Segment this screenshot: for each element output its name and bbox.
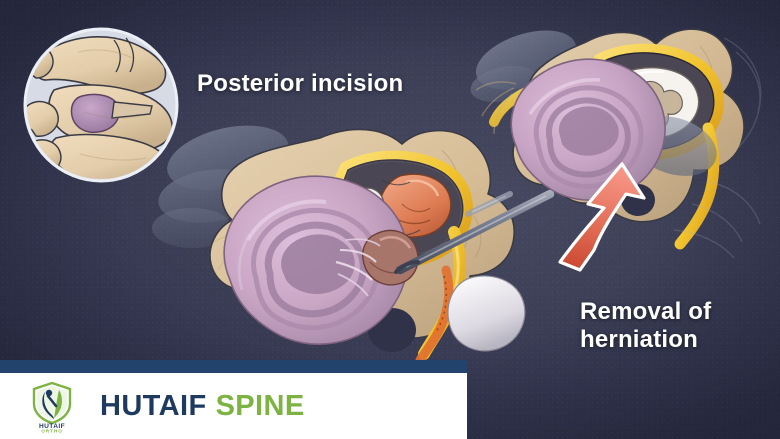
footer-body: HUTAIF ORTHO HUTAIFSPINE bbox=[0, 373, 467, 439]
articular-facet bbox=[448, 276, 525, 351]
illustration-canvas: Posterior incision Removal of herniation… bbox=[0, 0, 780, 439]
brand-wordmark: HUTAIFSPINE bbox=[100, 390, 305, 423]
removal-of-herniation-label: Removal of herniation bbox=[580, 298, 711, 354]
wordmark-hutaif: HUTAIF bbox=[100, 390, 207, 422]
surgical-instrument-tip bbox=[468, 194, 510, 214]
cervical-spine-inset bbox=[18, 22, 184, 188]
hutaif-shield-logo: HUTAIF ORTHO bbox=[24, 378, 80, 434]
logo-secondary-text: ORTHO bbox=[41, 428, 63, 433]
right-vertebra-illustration bbox=[468, 18, 780, 258]
posterior-incision-label: Posterior incision bbox=[197, 70, 403, 98]
footer-accent-bar bbox=[0, 360, 467, 373]
brand-footer: HUTAIF ORTHO HUTAIFSPINE bbox=[0, 360, 467, 439]
wordmark-spine: SPINE bbox=[216, 390, 305, 422]
